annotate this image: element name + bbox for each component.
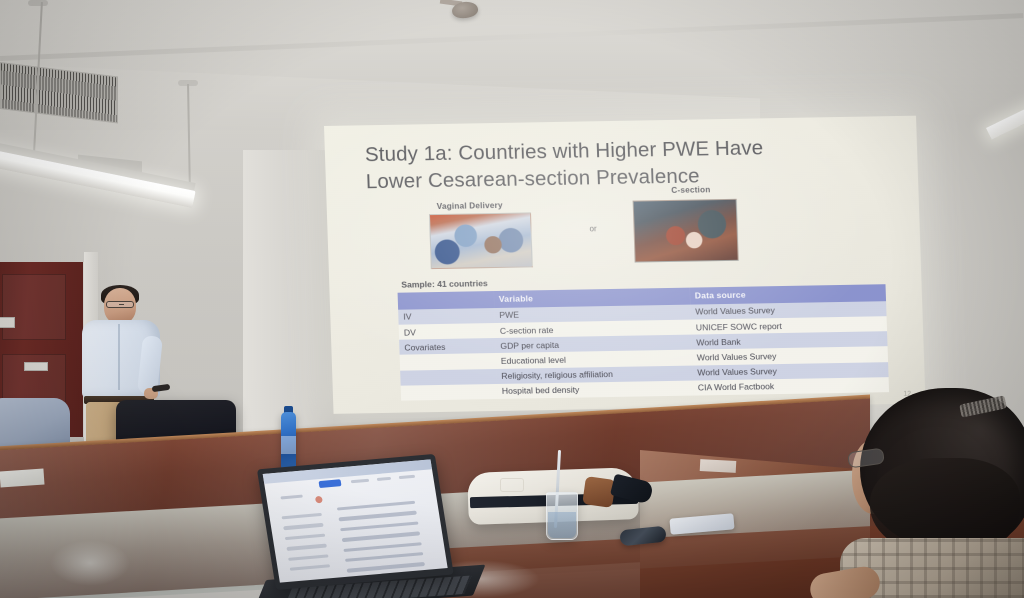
- connector-text: or: [589, 224, 596, 233]
- list-item[interactable]: [340, 521, 418, 531]
- bag-logo: [500, 478, 524, 492]
- cell-role: [400, 369, 497, 386]
- eyeglasses-icon: [106, 301, 134, 308]
- cell-role: [400, 353, 497, 370]
- table-body: IV PWE World Values Survey DV C-section …: [398, 301, 889, 401]
- col-header-role: [398, 291, 495, 309]
- door-panel: [2, 274, 66, 340]
- nav-item: [399, 475, 415, 479]
- door-sign: [24, 362, 48, 371]
- sidebar-item[interactable]: [285, 533, 325, 540]
- nav-item: [351, 479, 369, 484]
- cell-role: Covariates: [399, 338, 496, 355]
- variables-table: Variable Data source IV PWE World Values…: [398, 284, 890, 400]
- papers: [700, 459, 737, 473]
- slide: Study 1a: Countries with Higher PWE Have…: [324, 116, 926, 414]
- photo-vaginal-delivery: [429, 212, 533, 269]
- cell-role: DV: [399, 323, 496, 340]
- list-item[interactable]: [338, 511, 416, 521]
- sidebar-item[interactable]: [283, 523, 323, 530]
- shirt-placket: [118, 324, 120, 390]
- slide-title: Study 1a: Countries with Higher PWE Have…: [365, 132, 897, 195]
- cell-variable: Hospital bed density: [497, 380, 693, 399]
- meeting-room-photo: Study 1a: Countries with Higher PWE Have…: [0, 0, 1024, 598]
- papers: [0, 468, 45, 487]
- door-sign: [0, 317, 15, 328]
- bottle-label: [281, 436, 296, 454]
- laptop-screen[interactable]: [263, 459, 448, 582]
- sidebar-item[interactable]: [286, 544, 326, 551]
- presentation-clicker[interactable]: [152, 384, 171, 392]
- cell-role: IV: [398, 308, 495, 325]
- app-logo: [280, 495, 302, 500]
- seated-attendee: [852, 388, 1024, 598]
- sample-note: Sample: 41 countries: [401, 278, 488, 290]
- table-reflection: [50, 540, 130, 586]
- projection-screen: Study 1a: Countries with Higher PWE Have…: [324, 116, 926, 414]
- list-item[interactable]: [343, 542, 421, 552]
- sidebar-item[interactable]: [288, 554, 328, 561]
- list-item[interactable]: [347, 562, 425, 572]
- list-item[interactable]: [345, 552, 423, 562]
- laptop[interactable]: [276, 468, 476, 598]
- photo-c-section: [633, 199, 739, 263]
- image-label-vaginal-delivery: Vaginal Delivery: [437, 201, 503, 211]
- cell-role: [401, 384, 498, 401]
- nav-item: [377, 477, 391, 481]
- slide-title-line1: Study 1a: Countries with Higher PWE Have: [365, 136, 764, 166]
- image-label-c-section: C-section: [671, 185, 710, 195]
- glass-water: [548, 512, 576, 538]
- app-content-list: [337, 501, 426, 580]
- active-tab[interactable]: [318, 479, 341, 488]
- light-mount: [28, 0, 48, 6]
- sidebar-item[interactable]: [290, 564, 330, 571]
- list-item[interactable]: [342, 532, 420, 542]
- avatar: [315, 496, 323, 504]
- laptop-lid: [257, 454, 454, 590]
- slide-title-line2: Lower Cesarean-section Prevalence: [365, 164, 700, 193]
- sidebar-item[interactable]: [282, 513, 322, 520]
- list-item[interactable]: [337, 501, 415, 511]
- app-sidebar[interactable]: [282, 513, 332, 578]
